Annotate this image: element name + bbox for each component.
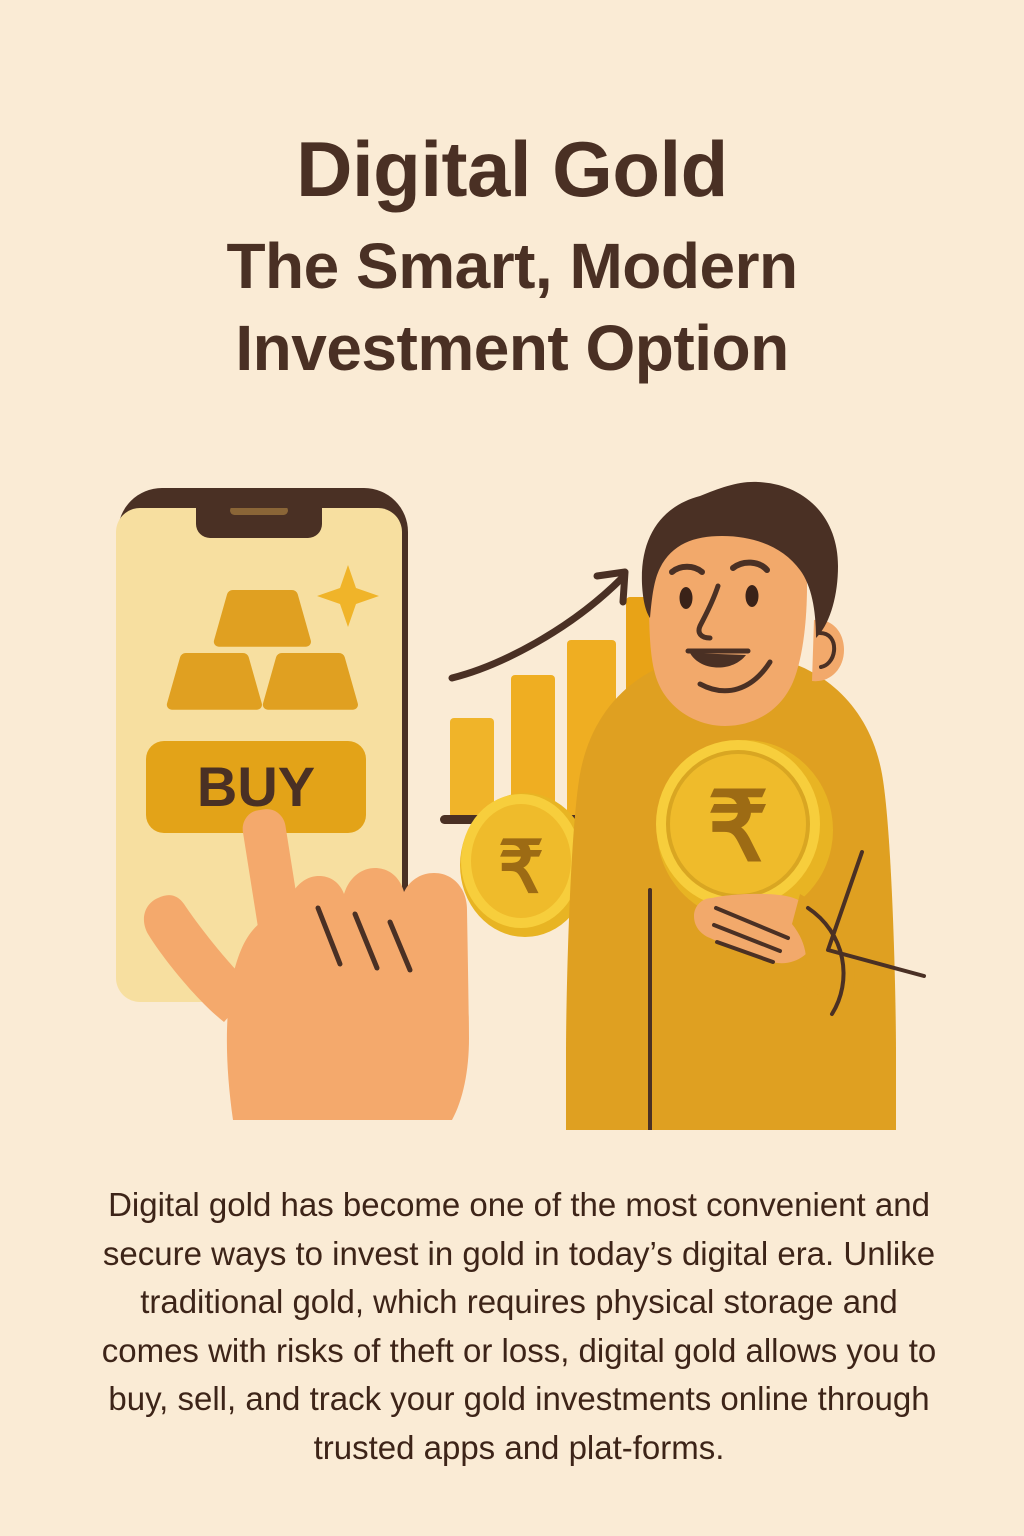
subtitle-line-2: Investment Option [0, 308, 1024, 390]
rupee-symbol: ₹ [498, 828, 544, 908]
held-rupee-coin: ₹ [656, 740, 833, 920]
hero-illustration: BUY [0, 470, 1024, 1130]
title-block: Digital Gold The Smart, Modern Investmen… [0, 130, 1024, 390]
chart-bar-1 [450, 718, 494, 818]
eye-right [746, 585, 759, 607]
eye-left [680, 587, 693, 609]
poster-canvas: Digital Gold The Smart, Modern Investmen… [0, 0, 1024, 1536]
subtitle-line-1: The Smart, Modern [0, 226, 1024, 308]
buy-button-label: BUY [197, 755, 315, 818]
page-title: Digital Gold [0, 130, 1024, 208]
rupee-symbol: ₹ [707, 774, 768, 881]
body-paragraph: Digital gold has become one of the most … [96, 1181, 942, 1472]
page-subtitle: The Smart, Modern Investment Option [0, 208, 1024, 390]
